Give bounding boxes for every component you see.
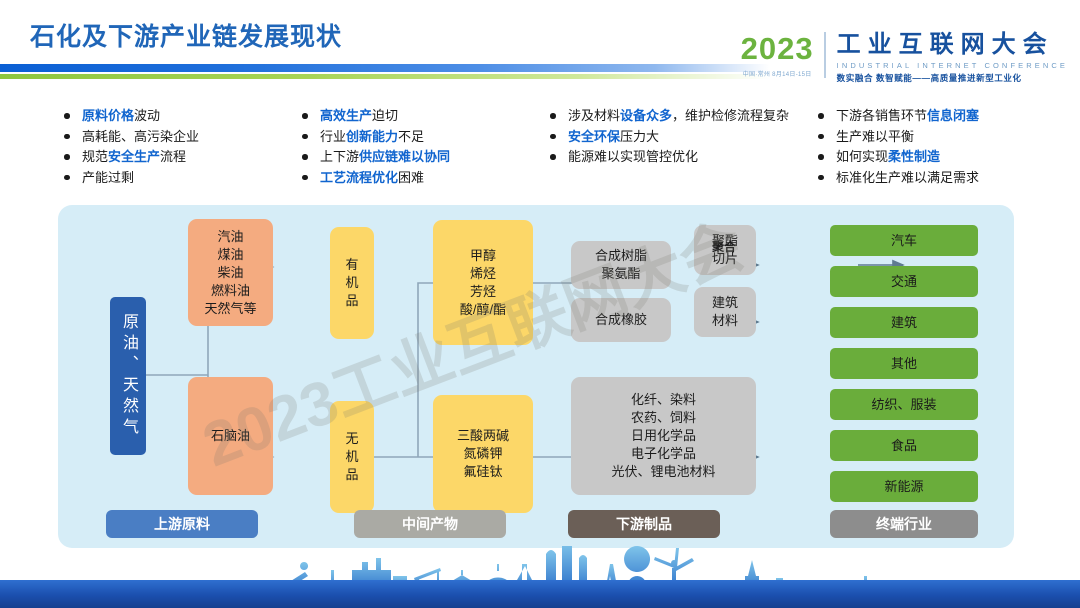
bullet-text: 规范 <box>82 149 108 164</box>
end-industry-2: 交通 <box>830 266 978 297</box>
footer-skyline <box>0 546 1080 608</box>
bullet-text: 迫切 <box>372 108 398 123</box>
node-naphtha: 石脑油 <box>188 377 273 495</box>
node-synthetic-rubber: 合成橡胶 <box>571 298 671 342</box>
bullet-text: 波动 <box>134 108 160 123</box>
slide-root: 石化及下游产业链发展现状 2023 中国·常州 8月14日-15日 工业互联网大… <box>0 0 1080 608</box>
bullet-item: 涉及材料设备众多，维护检修流程复杂 <box>546 106 806 126</box>
end-industry-1: 汽车 <box>830 225 978 256</box>
bullet-item: 标准化生产难以满足需求 <box>814 168 1062 188</box>
legend-chip-2: 中间产物 <box>354 510 506 538</box>
bullet-item: 行业创新能力不足 <box>298 127 538 147</box>
bullet-highlight: 信息闭塞 <box>927 108 979 123</box>
legend-chip-label: 终端行业 <box>876 514 932 534</box>
bullet-highlight: 设备众多 <box>620 108 672 123</box>
bullet-highlight: 安全环保 <box>568 129 620 144</box>
header-accent-bar-blue <box>0 64 770 72</box>
bullet-item: 产能过剩 <box>60 168 290 188</box>
logo-name-cn: 工业互联网大会 <box>837 32 1068 58</box>
bullet-highlight: 高效生产 <box>320 108 372 123</box>
node-organic-products: 甲醇 烯烃 芳烃 酸/醇/酯 <box>433 220 533 345</box>
bullet-item: 下游各销售环节信息闭塞 <box>814 106 1062 126</box>
bullet-column-2: 高效生产迫切行业创新能力不足上下游供应链难以协同工艺流程优化困难 <box>298 106 546 188</box>
bullet-text: 上下游 <box>320 149 359 164</box>
bullet-column-4: 下游各销售环节信息闭塞生产难以平衡如何实现柔性制造标准化生产难以满足需求 <box>814 106 1070 188</box>
end-industry-label: 其他 <box>891 355 917 373</box>
bullet-highlight: 柔性制造 <box>888 149 940 164</box>
end-industry-3: 建筑 <box>830 307 978 338</box>
arrow-label-polymerization: 聚合 <box>712 238 736 255</box>
bullet-item: 高耗能、高污染企业 <box>60 127 290 147</box>
node-refined-fuels: 汽油 煤油 柴油 燃料油 天然气等 <box>188 219 273 326</box>
logo-slogan: 数实融合 数智赋能——高质量推进新型工业化 <box>837 72 1068 84</box>
bullet-text: 困难 <box>398 170 424 185</box>
end-industry-5: 纺织、服装 <box>830 389 978 420</box>
bullet-highlight: 创新能力 <box>346 129 398 144</box>
bullet-text: 下游各销售环节 <box>836 108 927 123</box>
bullet-text: ，维护检修流程复杂 <box>672 108 789 123</box>
bullet-columns: 原料价格波动高耗能、高污染企业规范安全生产流程产能过剩高效生产迫切行业创新能力不… <box>60 106 1070 188</box>
bullet-item: 规范安全生产流程 <box>60 147 290 167</box>
node-inorganic: 无 机 品 <box>330 401 374 513</box>
end-industry-label: 汽车 <box>891 232 917 250</box>
node-organic: 有 机 品 <box>330 227 374 339</box>
end-industry-6: 食品 <box>830 430 978 461</box>
legend-chip-label: 中间产物 <box>402 514 458 534</box>
node-chemical-products: 化纤、染料 农药、饲料 日用化学品 电子化学品 光伏、锂电池材料 <box>571 377 756 495</box>
legend-chip-4: 终端行业 <box>830 510 978 538</box>
node-synthetic-resin: 合成树脂 聚氨酯 <box>571 241 671 289</box>
bullet-highlight: 工艺流程优化 <box>320 170 398 185</box>
bullet-item: 上下游供应链难以协同 <box>298 147 538 167</box>
conference-logo: 2023 中国·常州 8月14日-15日 工业互联网大会 INDUSTRIAL … <box>741 32 1068 90</box>
logo-year-block: 2023 中国·常州 8月14日-15日 <box>741 32 826 78</box>
node-inorganic-products: 三酸两碱 氮磷钾 氟硅钛 <box>433 395 533 513</box>
bullet-text: 能源难以实现管控优化 <box>568 149 698 164</box>
logo-year-subtitle: 中国·常州 8月14日-15日 <box>743 69 812 78</box>
bullet-highlight: 供应链难以协同 <box>359 149 450 164</box>
bullet-text: 标准化生产难以满足需求 <box>836 170 979 185</box>
bullet-text: 压力大 <box>620 129 659 144</box>
bullet-item: 生产难以平衡 <box>814 127 1062 147</box>
end-industry-label: 交通 <box>891 273 917 291</box>
legend-chip-3: 下游制品 <box>568 510 720 538</box>
end-industry-label: 食品 <box>891 437 917 455</box>
bullet-column-3: 涉及材料设备众多，维护检修流程复杂安全环保压力大能源难以实现管控优化 <box>546 106 814 188</box>
bullet-item: 高效生产迫切 <box>298 106 538 126</box>
page-title: 石化及下游产业链发展现状 <box>30 17 342 53</box>
node-building-materials: 建筑 材料 <box>694 287 756 337</box>
bullet-text: 不足 <box>398 129 424 144</box>
logo-name-block: 工业互联网大会 INDUSTRIAL INTERNET CONFERENCE 数… <box>826 32 1068 84</box>
bullet-item: 安全环保压力大 <box>546 127 806 147</box>
bullet-highlight: 原料价格 <box>82 108 134 123</box>
end-industry-7: 新能源 <box>830 471 978 502</box>
legend-chip-label: 下游制品 <box>616 514 672 534</box>
bullet-text: 行业 <box>320 129 346 144</box>
node-crude-oil: 原油、天然气 <box>110 297 146 455</box>
end-industry-label: 建筑 <box>891 314 917 332</box>
end-industry-label: 新能源 <box>884 478 923 496</box>
end-industry-4: 其他 <box>830 348 978 379</box>
bullet-text: 涉及材料 <box>568 108 620 123</box>
bullet-text: 如何实现 <box>836 149 888 164</box>
legend-chip-1: 上游原料 <box>106 510 258 538</box>
bullet-column-1: 原料价格波动高耗能、高污染企业规范安全生产流程产能过剩 <box>60 106 298 188</box>
bullet-item: 能源难以实现管控优化 <box>546 147 806 167</box>
bullet-highlight: 安全生产 <box>108 149 160 164</box>
bullet-text: 生产难以平衡 <box>836 129 914 144</box>
value-chain-diagram: 2023工业互联网大会 <box>58 205 1014 548</box>
bullet-item: 原料价格波动 <box>60 106 290 126</box>
logo-year: 2023 <box>741 32 814 66</box>
header-accent-bar-green <box>0 74 770 79</box>
bullet-text: 高耗能、高污染企业 <box>82 129 199 144</box>
footer-wave-band <box>0 580 1080 608</box>
logo-name-en: INDUSTRIAL INTERNET CONFERENCE <box>837 61 1068 70</box>
bullet-item: 工艺流程优化困难 <box>298 168 538 188</box>
legend-chip-label: 上游原料 <box>154 514 210 534</box>
bullet-item: 如何实现柔性制造 <box>814 147 1062 167</box>
bullet-text: 产能过剩 <box>82 170 134 185</box>
bullet-text: 流程 <box>160 149 186 164</box>
end-industry-label: 纺织、服装 <box>871 396 936 414</box>
